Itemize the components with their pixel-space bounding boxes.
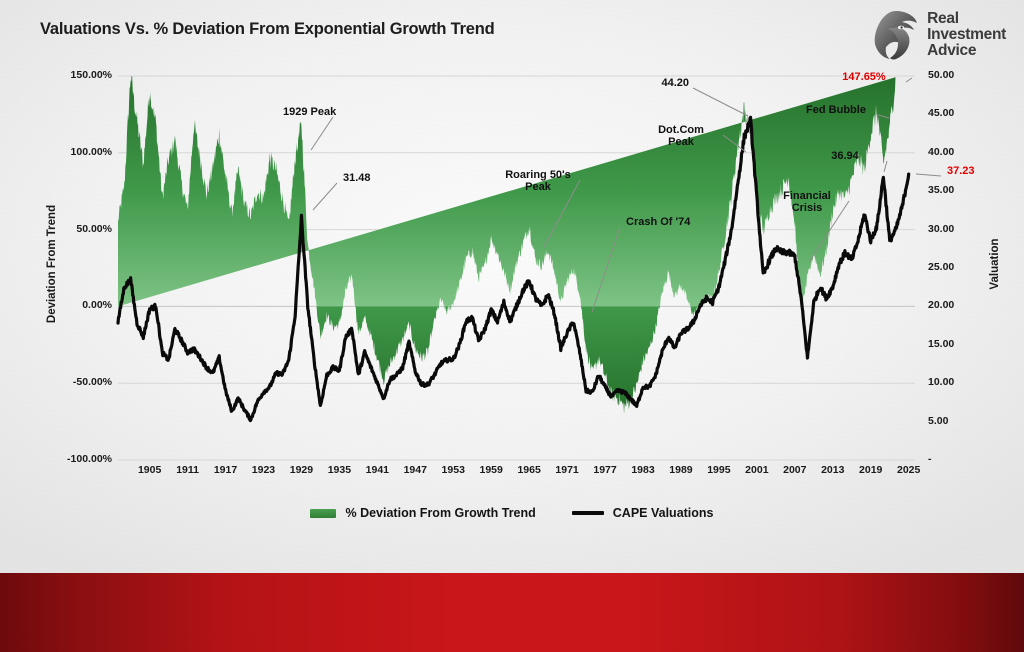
y2-axis-tick-5: 25.00 bbox=[928, 261, 954, 273]
y-axis-title: Deviation From Trend bbox=[46, 194, 58, 334]
annotation-10: 37.23 bbox=[947, 165, 975, 177]
y2-axis-tick-6: 30.00 bbox=[928, 223, 954, 235]
bottom-red-banner bbox=[0, 573, 1024, 652]
legend-label-cape: CAPE Valuations bbox=[613, 506, 714, 520]
area-swatch-icon bbox=[310, 509, 336, 518]
y2-axis-tick-9: 45.00 bbox=[928, 107, 954, 119]
y2-axis-tick-4: 20.00 bbox=[928, 299, 954, 311]
y2-axis-tick-1: 5.00 bbox=[928, 415, 948, 427]
y-axis-tick-2: 0.00% bbox=[20, 299, 112, 311]
chart-legend: % Deviation From Growth Trend CAPE Valua… bbox=[0, 506, 1024, 520]
annotation-8: 36.94 bbox=[785, 150, 905, 162]
annotation-1: 31.48 bbox=[343, 172, 371, 184]
y-axis-tick-5: 150.00% bbox=[20, 69, 112, 81]
x-axis-tick-20: 2025 bbox=[885, 464, 933, 476]
y2-axis-tick-3: 15.00 bbox=[928, 338, 954, 350]
line-swatch-icon bbox=[572, 511, 604, 515]
annotation-5: Dot.Com Peak bbox=[621, 124, 741, 149]
y2-axis-title: Valuation bbox=[989, 204, 1001, 324]
annotation-6: Financial Crisis bbox=[747, 190, 867, 215]
legend-item-cape[interactable]: CAPE Valuations bbox=[572, 506, 714, 520]
legend-label-deviation: % Deviation From Growth Trend bbox=[345, 506, 535, 520]
annotation-9: 147.65% bbox=[804, 71, 924, 83]
y-axis-tick-3: 50.00% bbox=[20, 223, 112, 235]
annotation-0: 1929 Peak bbox=[283, 106, 336, 118]
y-axis-tick-1: -50.00% bbox=[20, 376, 112, 388]
y2-axis-tick-10: 50.00 bbox=[928, 69, 954, 81]
y-axis-tick-0: -100.00% bbox=[20, 453, 112, 465]
annotation-4: 44.20 bbox=[589, 77, 689, 89]
y2-axis-tick-8: 40.00 bbox=[928, 146, 954, 158]
annotation-7: Fed Bubble bbox=[776, 104, 896, 116]
y-axis-tick-4: 100.00% bbox=[20, 146, 112, 158]
annotation-3: Crash Of '74 bbox=[626, 216, 690, 228]
deviation-area-series bbox=[118, 72, 896, 413]
y2-axis-tick-2: 10.00 bbox=[928, 376, 954, 388]
y2-axis-tick-7: 35.00 bbox=[928, 184, 954, 196]
legend-item-deviation[interactable]: % Deviation From Growth Trend bbox=[310, 506, 535, 520]
annotation-2: Roaring 50's Peak bbox=[478, 169, 598, 194]
chart-screenshot: Valuations Vs. % Deviation From Exponent… bbox=[0, 0, 1024, 652]
